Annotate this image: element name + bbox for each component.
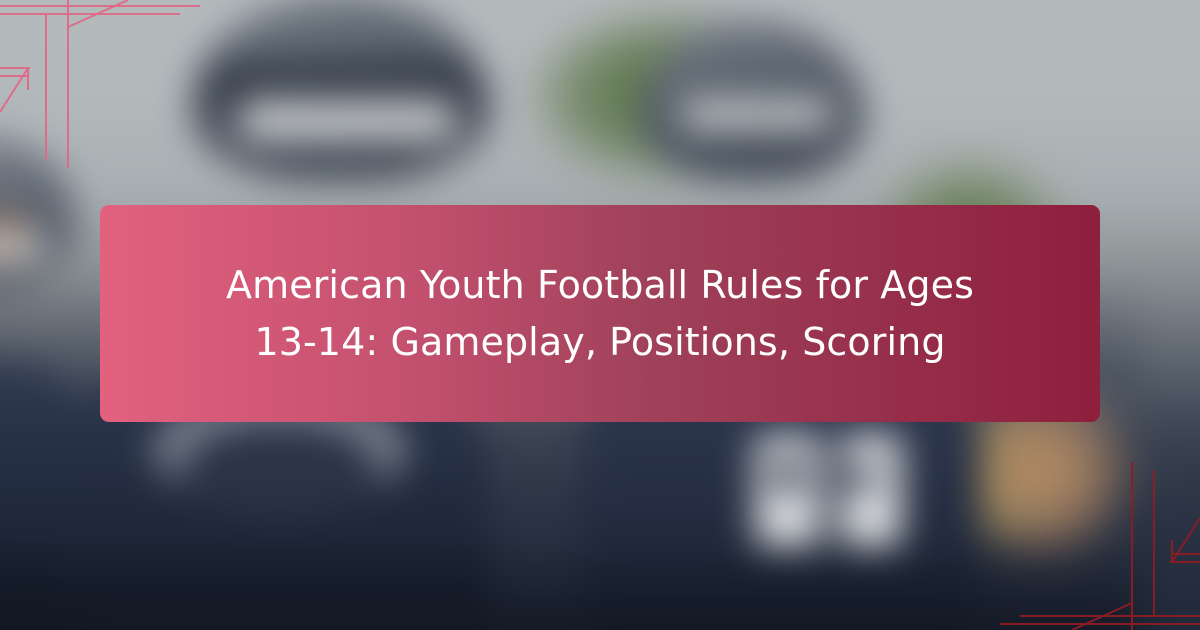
facemask-left: [0, 230, 45, 264]
corner-accent-bottom-right-icon: [970, 440, 1200, 630]
corner-accent-top-left-icon: [0, 0, 230, 190]
facemask-right: [682, 100, 832, 130]
corner-accent-bottom-right: [970, 440, 1200, 630]
corner-accent-top-left: [0, 0, 230, 190]
facemask-center: [240, 100, 455, 140]
share-card: American Youth Football Rules for Ages 1…: [0, 0, 1200, 630]
jersey-collar-inner: [180, 420, 380, 515]
title-banner: American Youth Football Rules for Ages 1…: [100, 205, 1100, 422]
jersey-number-counter: [771, 458, 805, 492]
jersey-number-digit-second: [840, 435, 902, 547]
jersey-number-notch: [840, 468, 880, 486]
bottom-vignette: [0, 540, 1140, 630]
page-title: American Youth Football Rules for Ages 1…: [156, 257, 1044, 371]
